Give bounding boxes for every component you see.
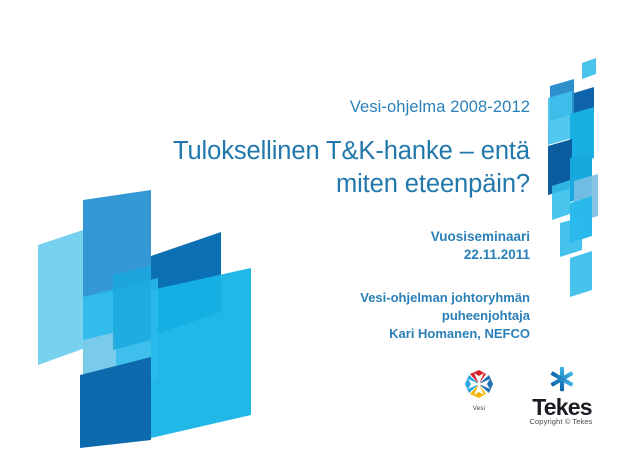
presenter-role-line-2: puheenjohtaja <box>60 307 530 325</box>
vesi-logo-label: Vesi <box>456 406 502 412</box>
tekes-wordmark: Tekes <box>510 396 614 419</box>
tekes-asterisk-icon <box>549 366 575 392</box>
vesi-logo: Vesi <box>456 368 502 412</box>
deco-shape-bottom-diamond <box>570 251 592 297</box>
logo-row: Vesi Tekes <box>448 368 624 420</box>
deco-shape-top-small <box>582 58 596 79</box>
deco-shape-upper-right-deep <box>574 87 594 142</box>
presenter-name: Kari Homanen, NEFCO <box>60 325 530 343</box>
event-block: Vuosiseminaari 22.11.2011 <box>60 228 530 264</box>
presenter-role-line-1: Vesi-ohjelman johtoryhmän <box>60 289 530 307</box>
deco-shape-pale <box>574 174 598 223</box>
brand-shape-dark-bottom <box>80 357 151 448</box>
tekes-logo: Tekes <box>510 366 614 419</box>
deco-shape-deep-navy <box>548 139 572 195</box>
presentation-slide: Vesi-ohjelma 2008-2012 Tuloksellinen T&K… <box>0 0 640 453</box>
deco-shape-cyan-small-lower <box>552 180 570 220</box>
deco-shape-cyan-lower <box>570 152 592 202</box>
deco-shape-cyan-tail <box>570 196 592 243</box>
slide-text-block: Vesi-ohjelma 2008-2012 Tuloksellinen T&K… <box>60 98 530 344</box>
event-date: 22.11.2011 <box>60 246 530 264</box>
deco-shape-cyan-mid <box>570 107 594 165</box>
deco-shape-cyan-wide <box>548 91 572 145</box>
page-title: Tuloksellinen T&K-hanke – entä miten ete… <box>60 135 530 202</box>
deco-shape-bottom-chunk <box>560 217 582 257</box>
vesi-center-dot <box>477 382 481 386</box>
title-line-1: Tuloksellinen T&K-hanke – entä <box>60 135 530 169</box>
deco-shape-upper-left <box>550 79 574 121</box>
event-name: Vuosiseminaari <box>60 228 530 246</box>
tekes-decorative-column <box>548 18 640 314</box>
vesi-pinwheel-icon <box>463 368 495 400</box>
presenter-block: Vesi-ohjelman johtoryhmän puheenjohtaja … <box>60 289 530 344</box>
copyright-notice: Copyright © Tekes <box>498 417 624 426</box>
programme-eyebrow: Vesi-ohjelma 2008-2012 <box>60 98 530 118</box>
title-line-2: miten eteenpäin? <box>60 168 530 202</box>
